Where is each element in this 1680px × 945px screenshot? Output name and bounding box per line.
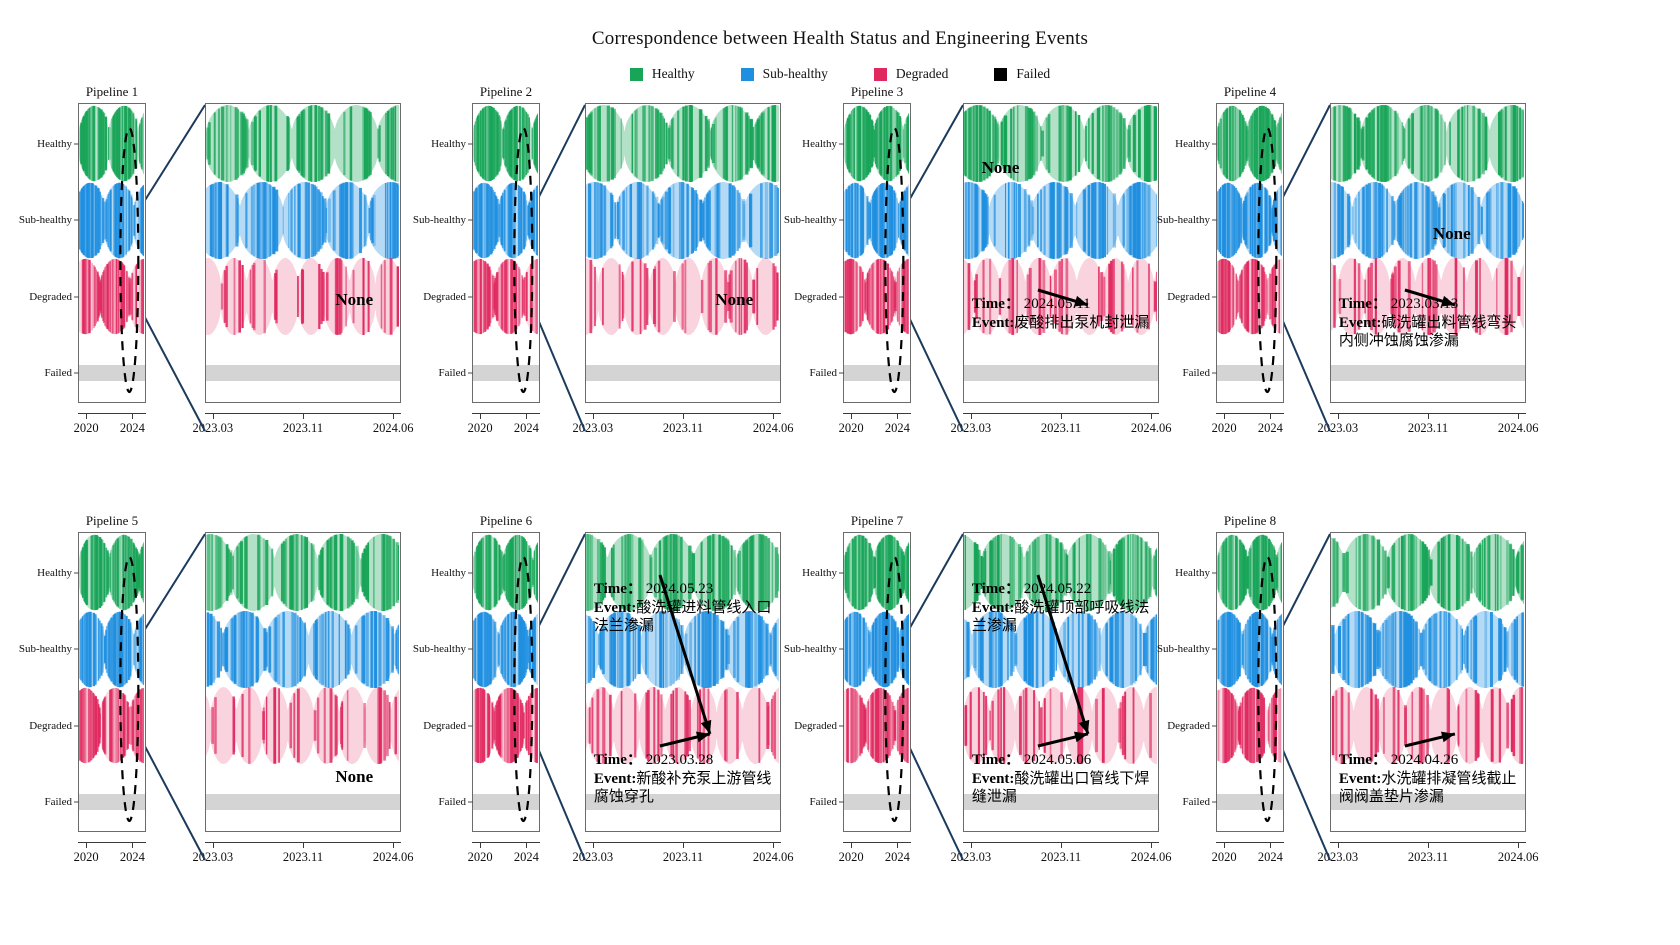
panel-title: Pipeline 7 bbox=[844, 513, 910, 529]
x-tick-label: 2024.06 bbox=[1131, 850, 1172, 865]
detail-plot-6[interactable]: Time： 2024.05.23Event:酸洗罐进料管线入口法兰渗漏Time：… bbox=[585, 532, 781, 832]
x-axis-overview: 20202024 bbox=[472, 413, 540, 414]
x-tick bbox=[86, 413, 87, 419]
status-band-degraded bbox=[79, 685, 145, 766]
status-band-failed bbox=[206, 365, 400, 381]
status-band-canvas bbox=[79, 103, 144, 184]
x-tick bbox=[851, 413, 852, 419]
status-band-healthy bbox=[473, 532, 539, 613]
x-tick-label: 2024 bbox=[514, 850, 539, 865]
x-tick-label: 2020 bbox=[468, 850, 493, 865]
annotation-time-label: Time： bbox=[972, 296, 1020, 312]
annotation-time-value: 2024.05.11 bbox=[1020, 296, 1091, 312]
legend-swatch-icon bbox=[874, 68, 887, 81]
y-axis-label-degraded: Degraded bbox=[794, 720, 837, 732]
status-band-canvas bbox=[206, 532, 399, 613]
event-annotation: Time： 2024.05.11Event:废酸排出泵机封泄漏 bbox=[972, 296, 1150, 332]
x-axis-overview: 20202024 bbox=[1216, 842, 1284, 843]
figure-root: Correspondence between Health Status and… bbox=[0, 0, 1680, 945]
annotation-event-label: Event: bbox=[594, 771, 637, 787]
overview-plot-1[interactable]: Pipeline 1HealthySub-healthyDegradedFail… bbox=[78, 103, 146, 403]
status-band-sub-healthy bbox=[1217, 180, 1283, 261]
annotation-time-line: Time： 2023.03.13 bbox=[1339, 296, 1525, 314]
x-tick-label: 2024 bbox=[120, 421, 145, 436]
status-band-failed bbox=[79, 794, 145, 810]
status-band-healthy bbox=[844, 532, 910, 613]
status-band-degraded bbox=[844, 256, 910, 337]
status-band-sub-healthy bbox=[964, 180, 1158, 261]
status-band-sub-healthy bbox=[1331, 180, 1525, 261]
annotation-event-label: Event: bbox=[972, 600, 1015, 616]
annotation-time-label: Time： bbox=[972, 752, 1020, 768]
status-band-failed bbox=[586, 365, 780, 381]
annotation-time-line: Time： 2024.05.11 bbox=[972, 296, 1150, 314]
status-band-canvas bbox=[964, 180, 1157, 261]
x-tick-label: 2024.06 bbox=[753, 421, 794, 436]
x-tick-label: 2023.11 bbox=[1408, 421, 1448, 436]
event-annotation: Time： 2023.03.28Event:新酸补充泵上游管线腐蚀穿孔 bbox=[594, 752, 780, 807]
status-band-canvas bbox=[473, 609, 538, 690]
x-tick bbox=[773, 842, 774, 848]
status-band-degraded bbox=[1217, 685, 1283, 766]
x-axis-overview: 20202024 bbox=[78, 842, 146, 843]
status-band-canvas bbox=[206, 180, 399, 261]
legend-item-sub-healthy: Sub-healthy bbox=[741, 66, 828, 82]
status-band-canvas bbox=[1331, 532, 1524, 613]
x-tick-label: 2023.11 bbox=[283, 850, 323, 865]
x-tick-label: 2020 bbox=[839, 421, 864, 436]
status-band-healthy bbox=[844, 103, 910, 184]
status-band-healthy bbox=[1331, 103, 1525, 184]
event-annotation: Time： 2024.04.26Event:水洗罐排凝管线截止阀阀盖垫片渗漏 bbox=[1339, 752, 1525, 807]
y-axis-label-degraded: Degraded bbox=[1167, 720, 1210, 732]
status-band-canvas bbox=[844, 256, 909, 337]
status-band-sub-healthy bbox=[79, 609, 145, 690]
overview-plot-5[interactable]: Pipeline 5HealthySub-healthyDegradedFail… bbox=[78, 532, 146, 832]
x-tick-label: 2020 bbox=[1212, 421, 1237, 436]
y-axis-label-failed: Failed bbox=[810, 367, 838, 379]
x-tick bbox=[480, 842, 481, 848]
overview-plot-2[interactable]: Pipeline 2HealthySub-healthyDegradedFail… bbox=[472, 103, 540, 403]
x-tick-label: 2023.03 bbox=[951, 421, 992, 436]
x-tick-label: 2020 bbox=[1212, 850, 1237, 865]
x-axis-detail: 2023.032023.112024.06 bbox=[963, 842, 1159, 843]
annotation-event-label: Event: bbox=[972, 315, 1015, 331]
annotation-time-label: Time： bbox=[1339, 296, 1387, 312]
x-tick-label: 2023.03 bbox=[1318, 850, 1359, 865]
status-band-failed bbox=[473, 794, 539, 810]
status-band-sub-healthy bbox=[473, 609, 539, 690]
panel-title: Pipeline 6 bbox=[473, 513, 539, 529]
x-tick-label: 2024.06 bbox=[373, 850, 414, 865]
status-band-sub-healthy bbox=[1331, 609, 1525, 690]
y-axis-label-sub-healthy: Sub-healthy bbox=[1157, 643, 1210, 655]
x-tick bbox=[303, 842, 304, 848]
legend: HealthySub-healthyDegradedFailed bbox=[0, 66, 1680, 82]
x-tick bbox=[971, 842, 972, 848]
event-annotation: Time： 2024.05.06Event:酸洗罐出口管线下焊缝泄漏 bbox=[972, 752, 1158, 807]
y-axis-label-healthy: Healthy bbox=[1175, 138, 1210, 150]
none-annotation: None bbox=[715, 290, 753, 310]
detail-plot-8[interactable]: Time： 2024.04.26Event:水洗罐排凝管线截止阀阀盖垫片渗漏 bbox=[1330, 532, 1526, 832]
status-band-healthy bbox=[79, 532, 145, 613]
y-axis-label-degraded: Degraded bbox=[423, 291, 466, 303]
status-band-sub-healthy bbox=[1217, 609, 1283, 690]
y-axis-label-failed: Failed bbox=[810, 796, 838, 808]
event-annotation: Time： 2023.03.13Event:碱洗罐出料管线弯头内侧冲蚀腐蚀渗漏 bbox=[1339, 296, 1525, 351]
annotation-time-value: 2024.05.23 bbox=[642, 581, 713, 597]
status-band-canvas bbox=[1217, 532, 1282, 613]
status-band-healthy bbox=[473, 103, 539, 184]
x-tick bbox=[213, 413, 214, 419]
y-axis-label-sub-healthy: Sub-healthy bbox=[1157, 214, 1210, 226]
status-band-canvas bbox=[79, 256, 144, 337]
panel-title: Pipeline 3 bbox=[844, 84, 910, 100]
x-tick-label: 2024 bbox=[120, 850, 145, 865]
x-tick-label: 2020 bbox=[839, 850, 864, 865]
status-band-healthy bbox=[79, 103, 145, 184]
status-band-canvas bbox=[844, 180, 909, 261]
x-tick bbox=[1224, 842, 1225, 848]
status-band-degraded bbox=[79, 256, 145, 337]
status-band-degraded bbox=[206, 685, 400, 766]
status-band-degraded bbox=[473, 256, 539, 337]
overview-plot-8[interactable]: Pipeline 8HealthySub-healthyDegradedFail… bbox=[1216, 532, 1284, 832]
x-tick-label: 2020 bbox=[74, 421, 99, 436]
x-tick-label: 2023.03 bbox=[573, 850, 614, 865]
x-tick-label: 2020 bbox=[468, 421, 493, 436]
legend-label: Degraded bbox=[896, 66, 948, 82]
detail-plot-1[interactable]: None bbox=[205, 103, 401, 403]
status-band-canvas bbox=[473, 685, 538, 766]
status-band-sub-healthy bbox=[206, 180, 400, 261]
x-tick bbox=[851, 842, 852, 848]
y-axis-label-failed: Failed bbox=[45, 796, 73, 808]
status-band-sub-healthy bbox=[844, 180, 910, 261]
status-band-failed bbox=[1217, 365, 1283, 381]
status-band-sub-healthy bbox=[79, 180, 145, 261]
x-tick-label: 2024.06 bbox=[1498, 421, 1539, 436]
y-axis-label-healthy: Healthy bbox=[431, 567, 466, 579]
status-band-canvas bbox=[473, 256, 538, 337]
x-tick bbox=[1338, 413, 1339, 419]
x-tick bbox=[1270, 842, 1271, 848]
x-tick bbox=[480, 413, 481, 419]
status-band-canvas bbox=[206, 103, 399, 184]
x-tick bbox=[1428, 413, 1429, 419]
y-axis-label-failed: Failed bbox=[45, 367, 73, 379]
x-tick-label: 2020 bbox=[74, 850, 99, 865]
status-band-canvas bbox=[206, 685, 399, 766]
x-tick bbox=[1518, 842, 1519, 848]
panel-title: Pipeline 4 bbox=[1217, 84, 1283, 100]
status-band-degraded bbox=[1217, 256, 1283, 337]
x-axis-overview: 20202024 bbox=[1216, 413, 1284, 414]
x-tick-label: 2023.11 bbox=[663, 421, 703, 436]
x-tick bbox=[393, 842, 394, 848]
x-tick-label: 2023.11 bbox=[1041, 421, 1081, 436]
status-band-canvas bbox=[79, 609, 144, 690]
none-annotation: None bbox=[1433, 224, 1471, 244]
detail-plot-3[interactable]: NoneTime： 2024.05.11Event:废酸排出泵机封泄漏 bbox=[963, 103, 1159, 403]
x-tick-label: 2024 bbox=[885, 850, 910, 865]
y-axis-label-healthy: Healthy bbox=[802, 138, 837, 150]
x-tick-label: 2024.06 bbox=[1131, 421, 1172, 436]
status-band-sub-healthy bbox=[586, 180, 780, 261]
x-tick-label: 2023.03 bbox=[193, 421, 234, 436]
status-band-degraded bbox=[844, 685, 910, 766]
x-axis-detail: 2023.032023.112024.06 bbox=[1330, 413, 1526, 414]
y-axis-label-sub-healthy: Sub-healthy bbox=[19, 214, 72, 226]
y-axis-label-healthy: Healthy bbox=[431, 138, 466, 150]
x-tick bbox=[393, 413, 394, 419]
y-axis-label-degraded: Degraded bbox=[423, 720, 466, 732]
x-axis-detail: 2023.032023.112024.06 bbox=[205, 842, 401, 843]
x-tick-label: 2024 bbox=[1258, 421, 1283, 436]
panel-title: Pipeline 5 bbox=[79, 513, 145, 529]
none-annotation: None bbox=[335, 290, 373, 310]
annotation-time-value: 2024.04.26 bbox=[1387, 752, 1458, 768]
x-tick bbox=[1338, 842, 1339, 848]
x-tick bbox=[593, 413, 594, 419]
status-band-healthy bbox=[586, 103, 780, 184]
status-band-canvas bbox=[844, 103, 909, 184]
status-band-failed bbox=[964, 365, 1158, 381]
y-axis-label-failed: Failed bbox=[1183, 367, 1211, 379]
annotation-event-value: 废酸排出泵机封泄漏 bbox=[1014, 313, 1149, 331]
legend-item-degraded: Degraded bbox=[874, 66, 948, 82]
y-axis-label-failed: Failed bbox=[439, 796, 467, 808]
x-tick bbox=[1224, 413, 1225, 419]
x-tick-label: 2023.11 bbox=[283, 421, 323, 436]
status-band-canvas bbox=[1331, 609, 1524, 690]
detail-plot-2[interactable]: None bbox=[585, 103, 781, 403]
status-band-failed bbox=[844, 365, 910, 381]
annotation-event-label: Event: bbox=[1339, 315, 1382, 331]
x-tick bbox=[132, 842, 133, 848]
legend-label: Healthy bbox=[652, 66, 695, 82]
overview-plot-4[interactable]: Pipeline 4HealthySub-healthyDegradedFail… bbox=[1216, 103, 1284, 403]
x-tick bbox=[526, 842, 527, 848]
status-band-healthy bbox=[1217, 532, 1283, 613]
x-tick bbox=[303, 413, 304, 419]
legend-label: Failed bbox=[1016, 66, 1050, 82]
annotation-time-label: Time： bbox=[594, 752, 642, 768]
status-band-sub-healthy bbox=[206, 609, 400, 690]
annotation-event-label: Event: bbox=[972, 771, 1015, 787]
detail-plot-7[interactable]: Time： 2024.05.22Event:酸洗罐顶部呼吸线法兰渗漏Time： … bbox=[963, 532, 1159, 832]
status-band-canvas bbox=[1331, 103, 1524, 184]
status-band-canvas bbox=[586, 103, 779, 184]
y-axis-label-degraded: Degraded bbox=[1167, 291, 1210, 303]
legend-swatch-icon bbox=[630, 68, 643, 81]
detail-plot-5[interactable]: None bbox=[205, 532, 401, 832]
x-tick-label: 2024.06 bbox=[1498, 850, 1539, 865]
annotation-time-line: Time： 2024.04.26 bbox=[1339, 752, 1525, 770]
x-tick-label: 2023.03 bbox=[193, 850, 234, 865]
panel-title: Pipeline 8 bbox=[1217, 513, 1283, 529]
status-band-failed bbox=[79, 365, 145, 381]
annotation-time-line: Time： 2024.05.06 bbox=[972, 752, 1158, 770]
status-band-canvas bbox=[473, 532, 538, 613]
y-axis-label-healthy: Healthy bbox=[802, 567, 837, 579]
status-band-canvas bbox=[1217, 609, 1282, 690]
legend-item-healthy: Healthy bbox=[630, 66, 695, 82]
y-axis-label-sub-healthy: Sub-healthy bbox=[19, 643, 72, 655]
y-axis-label-degraded: Degraded bbox=[29, 291, 72, 303]
status-band-canvas bbox=[1217, 180, 1282, 261]
status-band-sub-healthy bbox=[844, 609, 910, 690]
x-tick-label: 2024.06 bbox=[753, 850, 794, 865]
annotation-event-line: Event:酸洗罐进料管线入口法兰渗漏 bbox=[594, 599, 780, 636]
x-axis-detail: 2023.032023.112024.06 bbox=[1330, 842, 1526, 843]
x-tick bbox=[1270, 413, 1271, 419]
x-tick-label: 2024.06 bbox=[373, 421, 414, 436]
annotation-time-line: Time： 2024.05.23 bbox=[594, 581, 780, 599]
status-band-canvas bbox=[1217, 256, 1282, 337]
x-tick bbox=[897, 842, 898, 848]
annotation-time-value: 2024.05.22 bbox=[1020, 581, 1091, 597]
status-band-healthy bbox=[1331, 532, 1525, 613]
panel-title: Pipeline 1 bbox=[79, 84, 145, 100]
x-tick bbox=[1428, 842, 1429, 848]
y-axis-label-sub-healthy: Sub-healthy bbox=[413, 214, 466, 226]
x-tick bbox=[1518, 413, 1519, 419]
x-tick-label: 2023.03 bbox=[951, 850, 992, 865]
status-band-canvas bbox=[1217, 685, 1282, 766]
annotation-time-value: 2023.03.28 bbox=[642, 752, 713, 768]
annotation-event-line: Event:新酸补充泵上游管线腐蚀穿孔 bbox=[594, 770, 780, 807]
annotation-time-label: Time： bbox=[1339, 752, 1387, 768]
x-axis-overview: 20202024 bbox=[843, 413, 911, 414]
x-axis-detail: 2023.032023.112024.06 bbox=[205, 413, 401, 414]
legend-item-failed: Failed bbox=[994, 66, 1050, 82]
y-axis-label-healthy: Healthy bbox=[37, 138, 72, 150]
overview-plot-7[interactable]: Pipeline 7HealthySub-healthyDegradedFail… bbox=[843, 532, 911, 832]
annotation-time-label: Time： bbox=[594, 581, 642, 597]
status-band-sub-healthy bbox=[473, 180, 539, 261]
x-tick bbox=[897, 413, 898, 419]
status-band-canvas bbox=[206, 609, 399, 690]
x-tick bbox=[213, 842, 214, 848]
x-tick-label: 2024 bbox=[885, 421, 910, 436]
status-band-canvas bbox=[586, 180, 779, 261]
annotation-event-line: Event:废酸排出泵机封泄漏 bbox=[972, 314, 1150, 333]
status-band-canvas bbox=[473, 180, 538, 261]
annotation-time-value: 2023.03.13 bbox=[1387, 296, 1458, 312]
detail-plot-4[interactable]: NoneTime： 2023.03.13Event:碱洗罐出料管线弯头内侧冲蚀腐… bbox=[1330, 103, 1526, 403]
x-axis-detail: 2023.032023.112024.06 bbox=[963, 413, 1159, 414]
event-annotation: Time： 2024.05.23Event:酸洗罐进料管线入口法兰渗漏 bbox=[594, 581, 780, 636]
annotation-event-label: Event: bbox=[1339, 771, 1382, 787]
x-axis-overview: 20202024 bbox=[843, 842, 911, 843]
annotation-event-line: Event:碱洗罐出料管线弯头内侧冲蚀腐蚀渗漏 bbox=[1339, 314, 1525, 351]
status-band-canvas bbox=[473, 103, 538, 184]
x-tick bbox=[1151, 413, 1152, 419]
annotation-time-line: Time： 2023.03.28 bbox=[594, 752, 780, 770]
x-tick-label: 2023.03 bbox=[1318, 421, 1359, 436]
x-tick bbox=[1061, 842, 1062, 848]
x-tick-label: 2023.11 bbox=[663, 850, 703, 865]
x-tick bbox=[593, 842, 594, 848]
none-annotation: None bbox=[982, 158, 1020, 178]
y-axis-label-degraded: Degraded bbox=[794, 291, 837, 303]
x-tick bbox=[1151, 842, 1152, 848]
status-band-canvas bbox=[1331, 180, 1524, 261]
y-axis-label-failed: Failed bbox=[1183, 796, 1211, 808]
x-axis-detail: 2023.032023.112024.06 bbox=[585, 413, 781, 414]
annotation-time-label: Time： bbox=[972, 581, 1020, 597]
annotation-time-value: 2024.05.06 bbox=[1020, 752, 1091, 768]
status-band-canvas bbox=[1217, 103, 1282, 184]
status-band-canvas bbox=[79, 180, 144, 261]
status-band-failed bbox=[1331, 365, 1525, 381]
y-axis-label-sub-healthy: Sub-healthy bbox=[784, 643, 837, 655]
y-axis-label-failed: Failed bbox=[439, 367, 467, 379]
x-axis-detail: 2023.032023.112024.06 bbox=[585, 842, 781, 843]
x-tick-label: 2023.03 bbox=[573, 421, 614, 436]
annotation-event-line: Event:酸洗罐出口管线下焊缝泄漏 bbox=[972, 770, 1158, 807]
status-band-failed bbox=[206, 794, 400, 810]
status-band-failed bbox=[844, 794, 910, 810]
x-axis-overview: 20202024 bbox=[78, 413, 146, 414]
status-band-canvas bbox=[844, 609, 909, 690]
y-axis-label-sub-healthy: Sub-healthy bbox=[413, 643, 466, 655]
x-axis-overview: 20202024 bbox=[472, 842, 540, 843]
annotation-event-label: Event: bbox=[594, 600, 637, 616]
status-band-healthy bbox=[1217, 103, 1283, 184]
y-axis-label-healthy: Healthy bbox=[1175, 567, 1210, 579]
status-band-canvas bbox=[844, 685, 909, 766]
x-tick bbox=[132, 413, 133, 419]
status-band-failed bbox=[473, 365, 539, 381]
page-title: Correspondence between Health Status and… bbox=[0, 28, 1680, 50]
status-band-canvas bbox=[79, 532, 144, 613]
y-axis-label-healthy: Healthy bbox=[37, 567, 72, 579]
status-band-degraded bbox=[473, 685, 539, 766]
x-tick bbox=[683, 413, 684, 419]
x-tick bbox=[86, 842, 87, 848]
status-band-healthy bbox=[206, 532, 400, 613]
x-tick bbox=[526, 413, 527, 419]
overview-plot-6[interactable]: Pipeline 6HealthySub-healthyDegradedFail… bbox=[472, 532, 540, 832]
overview-plot-3[interactable]: Pipeline 3HealthySub-healthyDegradedFail… bbox=[843, 103, 911, 403]
none-annotation: None bbox=[335, 767, 373, 787]
status-band-failed bbox=[1217, 794, 1283, 810]
event-annotation: Time： 2024.05.22Event:酸洗罐顶部呼吸线法兰渗漏 bbox=[972, 581, 1158, 636]
x-tick-label: 2023.11 bbox=[1041, 850, 1081, 865]
x-tick bbox=[971, 413, 972, 419]
y-axis-label-sub-healthy: Sub-healthy bbox=[784, 214, 837, 226]
annotation-event-line: Event:水洗罐排凝管线截止阀阀盖垫片渗漏 bbox=[1339, 770, 1525, 807]
status-band-canvas bbox=[79, 685, 144, 766]
status-band-healthy bbox=[206, 103, 400, 184]
x-tick bbox=[773, 413, 774, 419]
x-tick-label: 2024 bbox=[514, 421, 539, 436]
legend-swatch-icon bbox=[994, 68, 1007, 81]
legend-swatch-icon bbox=[741, 68, 754, 81]
legend-label: Sub-healthy bbox=[763, 66, 828, 82]
x-tick-label: 2024 bbox=[1258, 850, 1283, 865]
y-axis-label-degraded: Degraded bbox=[29, 720, 72, 732]
annotation-time-line: Time： 2024.05.22 bbox=[972, 581, 1158, 599]
x-tick bbox=[1061, 413, 1062, 419]
x-tick-label: 2023.11 bbox=[1408, 850, 1448, 865]
status-band-canvas bbox=[844, 532, 909, 613]
x-tick bbox=[683, 842, 684, 848]
panel-title: Pipeline 2 bbox=[473, 84, 539, 100]
annotation-event-line: Event:酸洗罐顶部呼吸线法兰渗漏 bbox=[972, 599, 1158, 636]
